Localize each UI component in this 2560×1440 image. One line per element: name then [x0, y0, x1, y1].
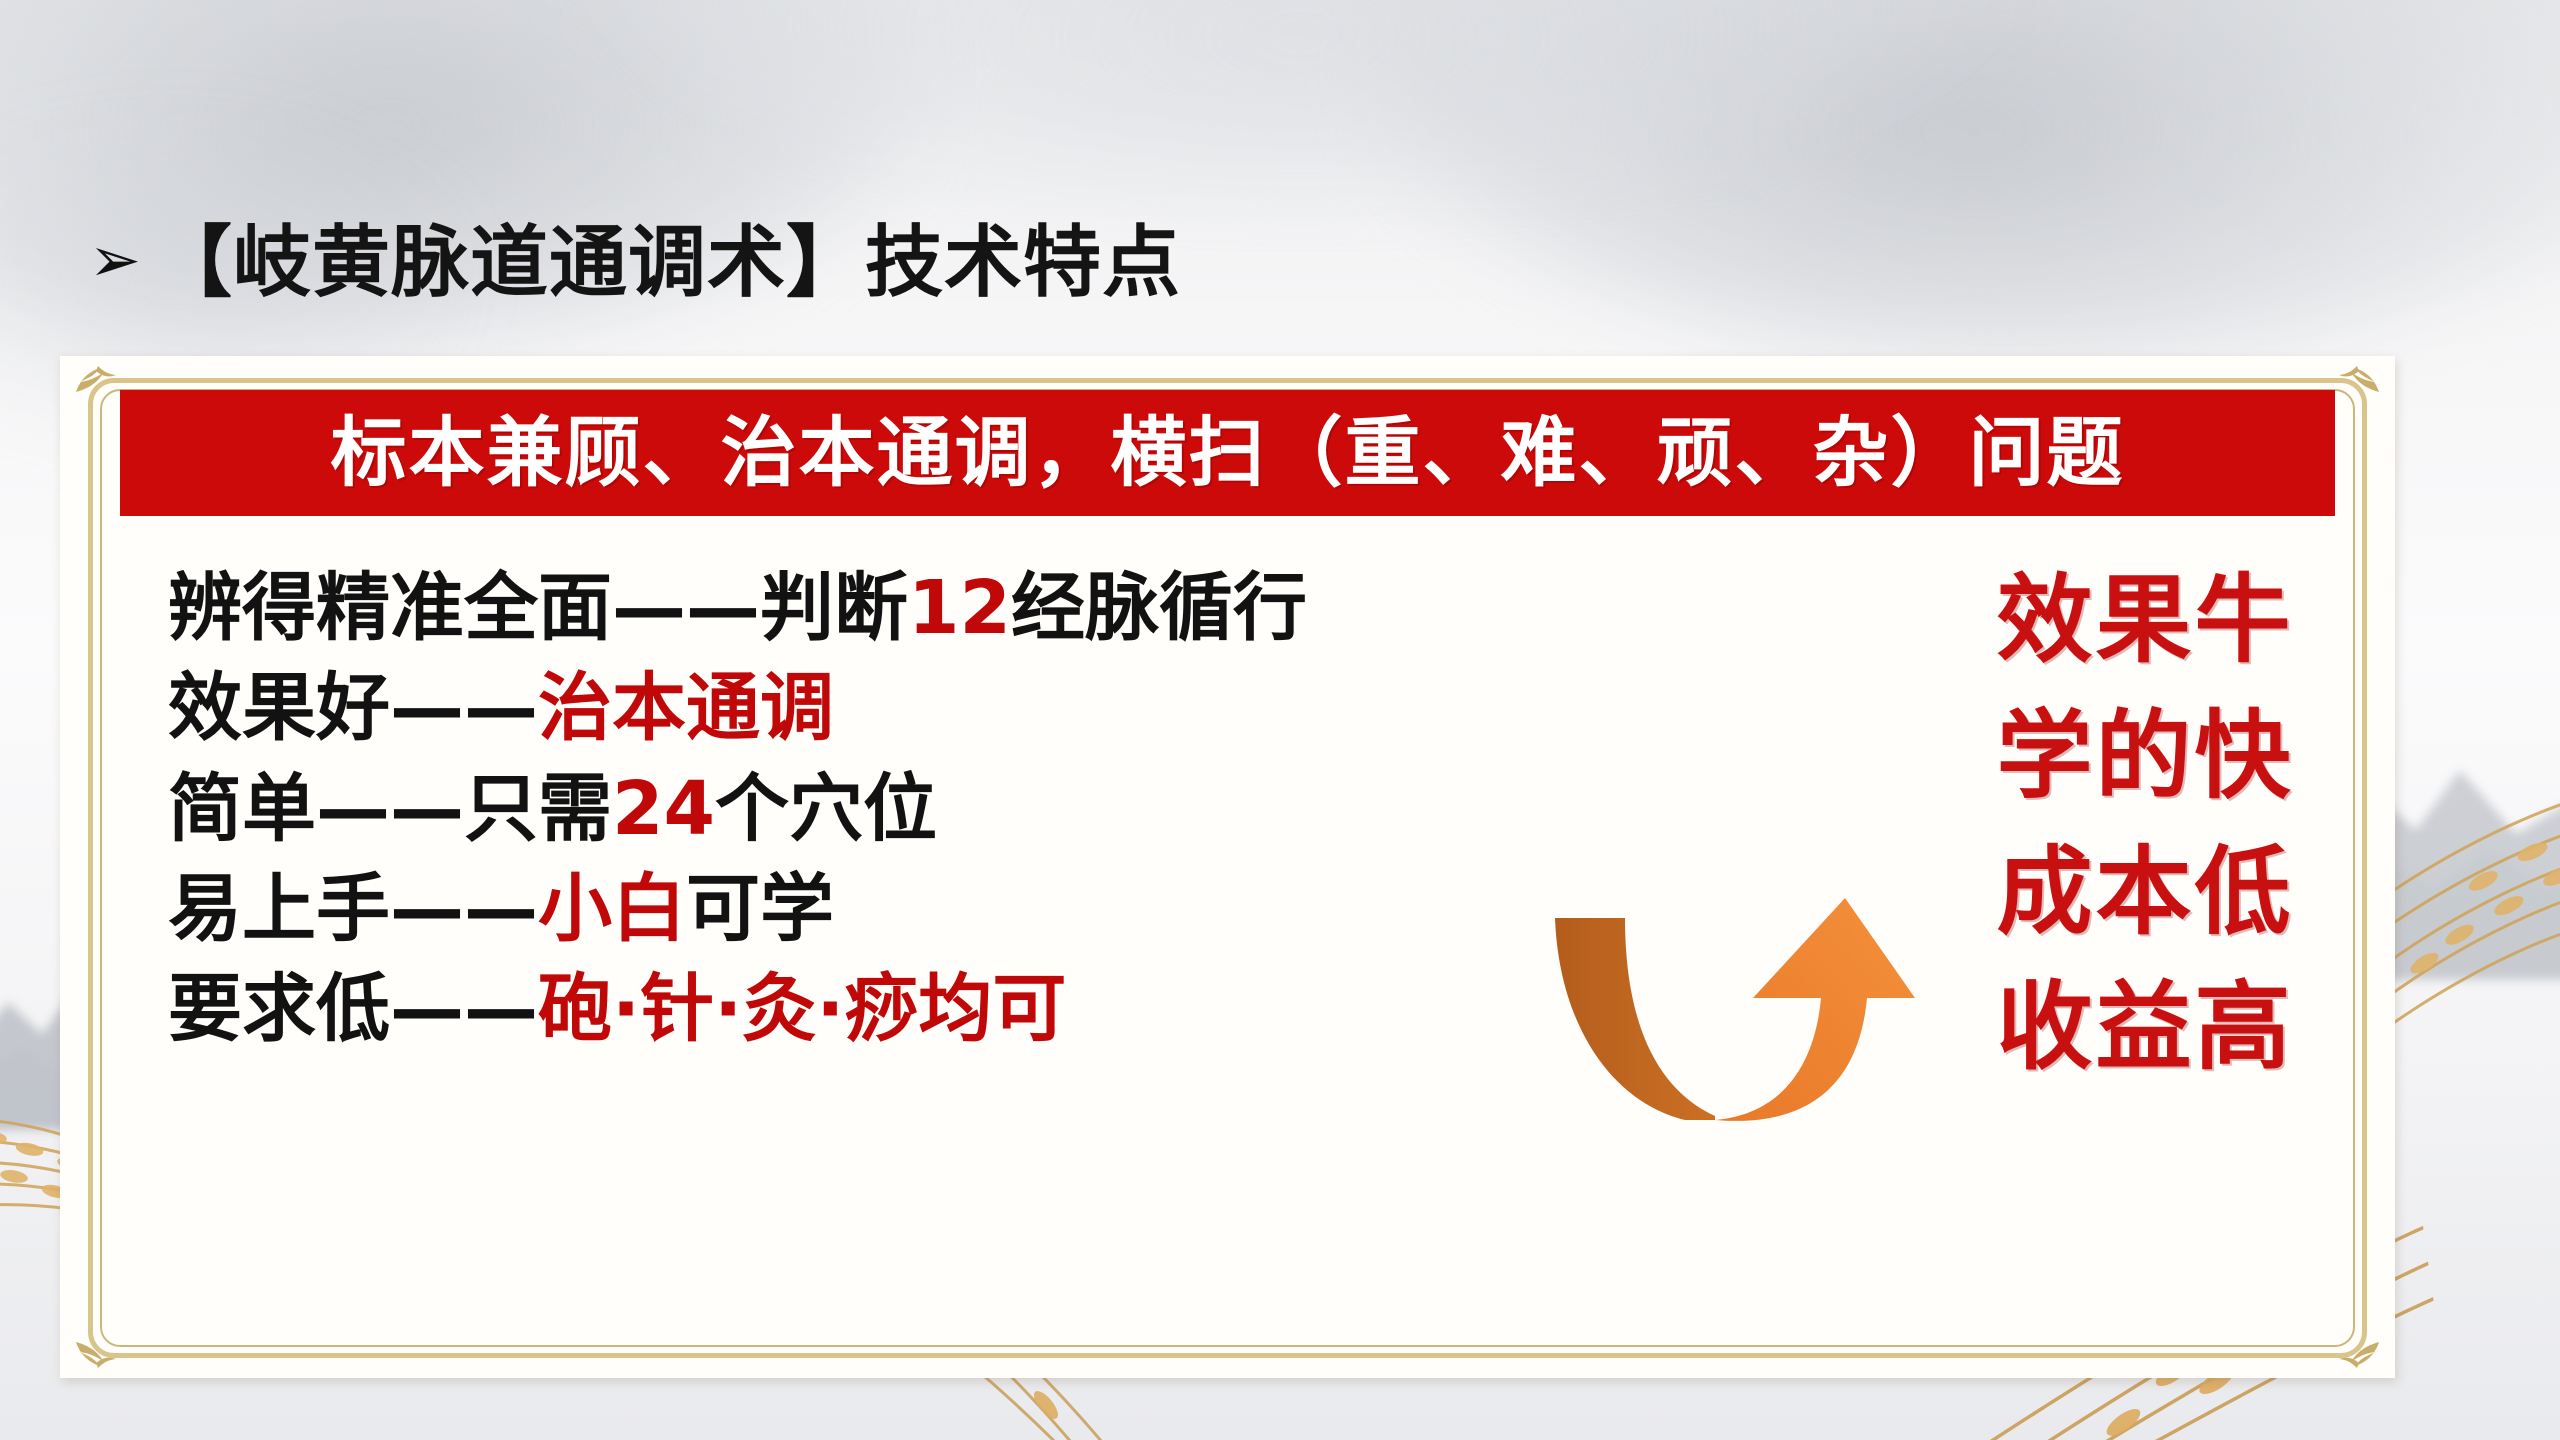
feature-line: 辨得精准全面——判断12经脉循行 [168, 558, 1588, 658]
curved-up-arrow-icon [1515, 866, 1915, 1176]
feature-line: 易上手——小白可学 [168, 859, 1588, 959]
page-title: ➢ 【岐黄脉道通调术】技术特点 [76, 220, 1181, 307]
slide-canvas: ➢ 【岐黄脉道通调术】技术特点 标本兼顾、治本通调，横扫（重、难、顽、杂）问题 [0, 0, 2560, 1440]
feature-highlight: 小白 [538, 866, 686, 952]
benefits-list: 效果牛 学的快 成本低 收益高 [1930, 571, 2360, 1078]
headline-banner-text: 标本兼顾、治本通调，横扫（重、难、顽、杂）问题 [331, 415, 2125, 491]
feature-suffix: 经脉循行 [1011, 565, 1307, 651]
feature-line: 简单——只需24个穴位 [168, 759, 1588, 859]
feature-suffix: 个穴位 [715, 766, 937, 852]
feature-highlight: 12 [908, 565, 1011, 651]
feature-line: 效果好——治本通调 [168, 658, 1588, 758]
corner-ornament-top-right [2327, 362, 2381, 406]
headline-banner: 标本兼顾、治本通调，横扫（重、难、顽、杂）问题 [120, 390, 2335, 516]
feature-highlight: 24 [612, 766, 715, 852]
page-title-text: 【岐黄脉道通调术】技术特点 [154, 220, 1181, 307]
chevron-bullet-icon: ➢ [76, 229, 154, 291]
feature-card: 标本兼顾、治本通调，横扫（重、难、顽、杂）问题 辨得精准全面——判断12经脉循行… [60, 356, 2395, 1378]
benefit-item: 成本低 [1997, 843, 2294, 943]
feature-prefix: 易上手—— [168, 866, 538, 952]
feature-prefix: 简单——只需 [168, 766, 612, 852]
benefit-item: 效果牛 [1997, 571, 2294, 671]
feature-highlight: 砲·针·灸·痧均可 [538, 966, 1066, 1052]
feature-prefix: 效果好—— [168, 665, 538, 751]
feature-suffix: 可学 [686, 866, 834, 952]
benefit-item: 收益高 [1997, 978, 2294, 1078]
feature-line: 要求低——砲·针·灸·痧均可 [168, 959, 1588, 1059]
benefit-item: 学的快 [1997, 707, 2294, 807]
feature-prefix: 辨得精准全面——判断 [168, 565, 908, 651]
feature-prefix: 要求低—— [168, 966, 538, 1052]
card-body: 辨得精准全面——判断12经脉循行 效果好——治本通调 简单——只需24个穴位 易… [60, 536, 2395, 1378]
feature-highlight: 治本通调 [538, 665, 834, 751]
feature-list: 辨得精准全面——判断12经脉循行 效果好——治本通调 简单——只需24个穴位 易… [168, 558, 1588, 1059]
